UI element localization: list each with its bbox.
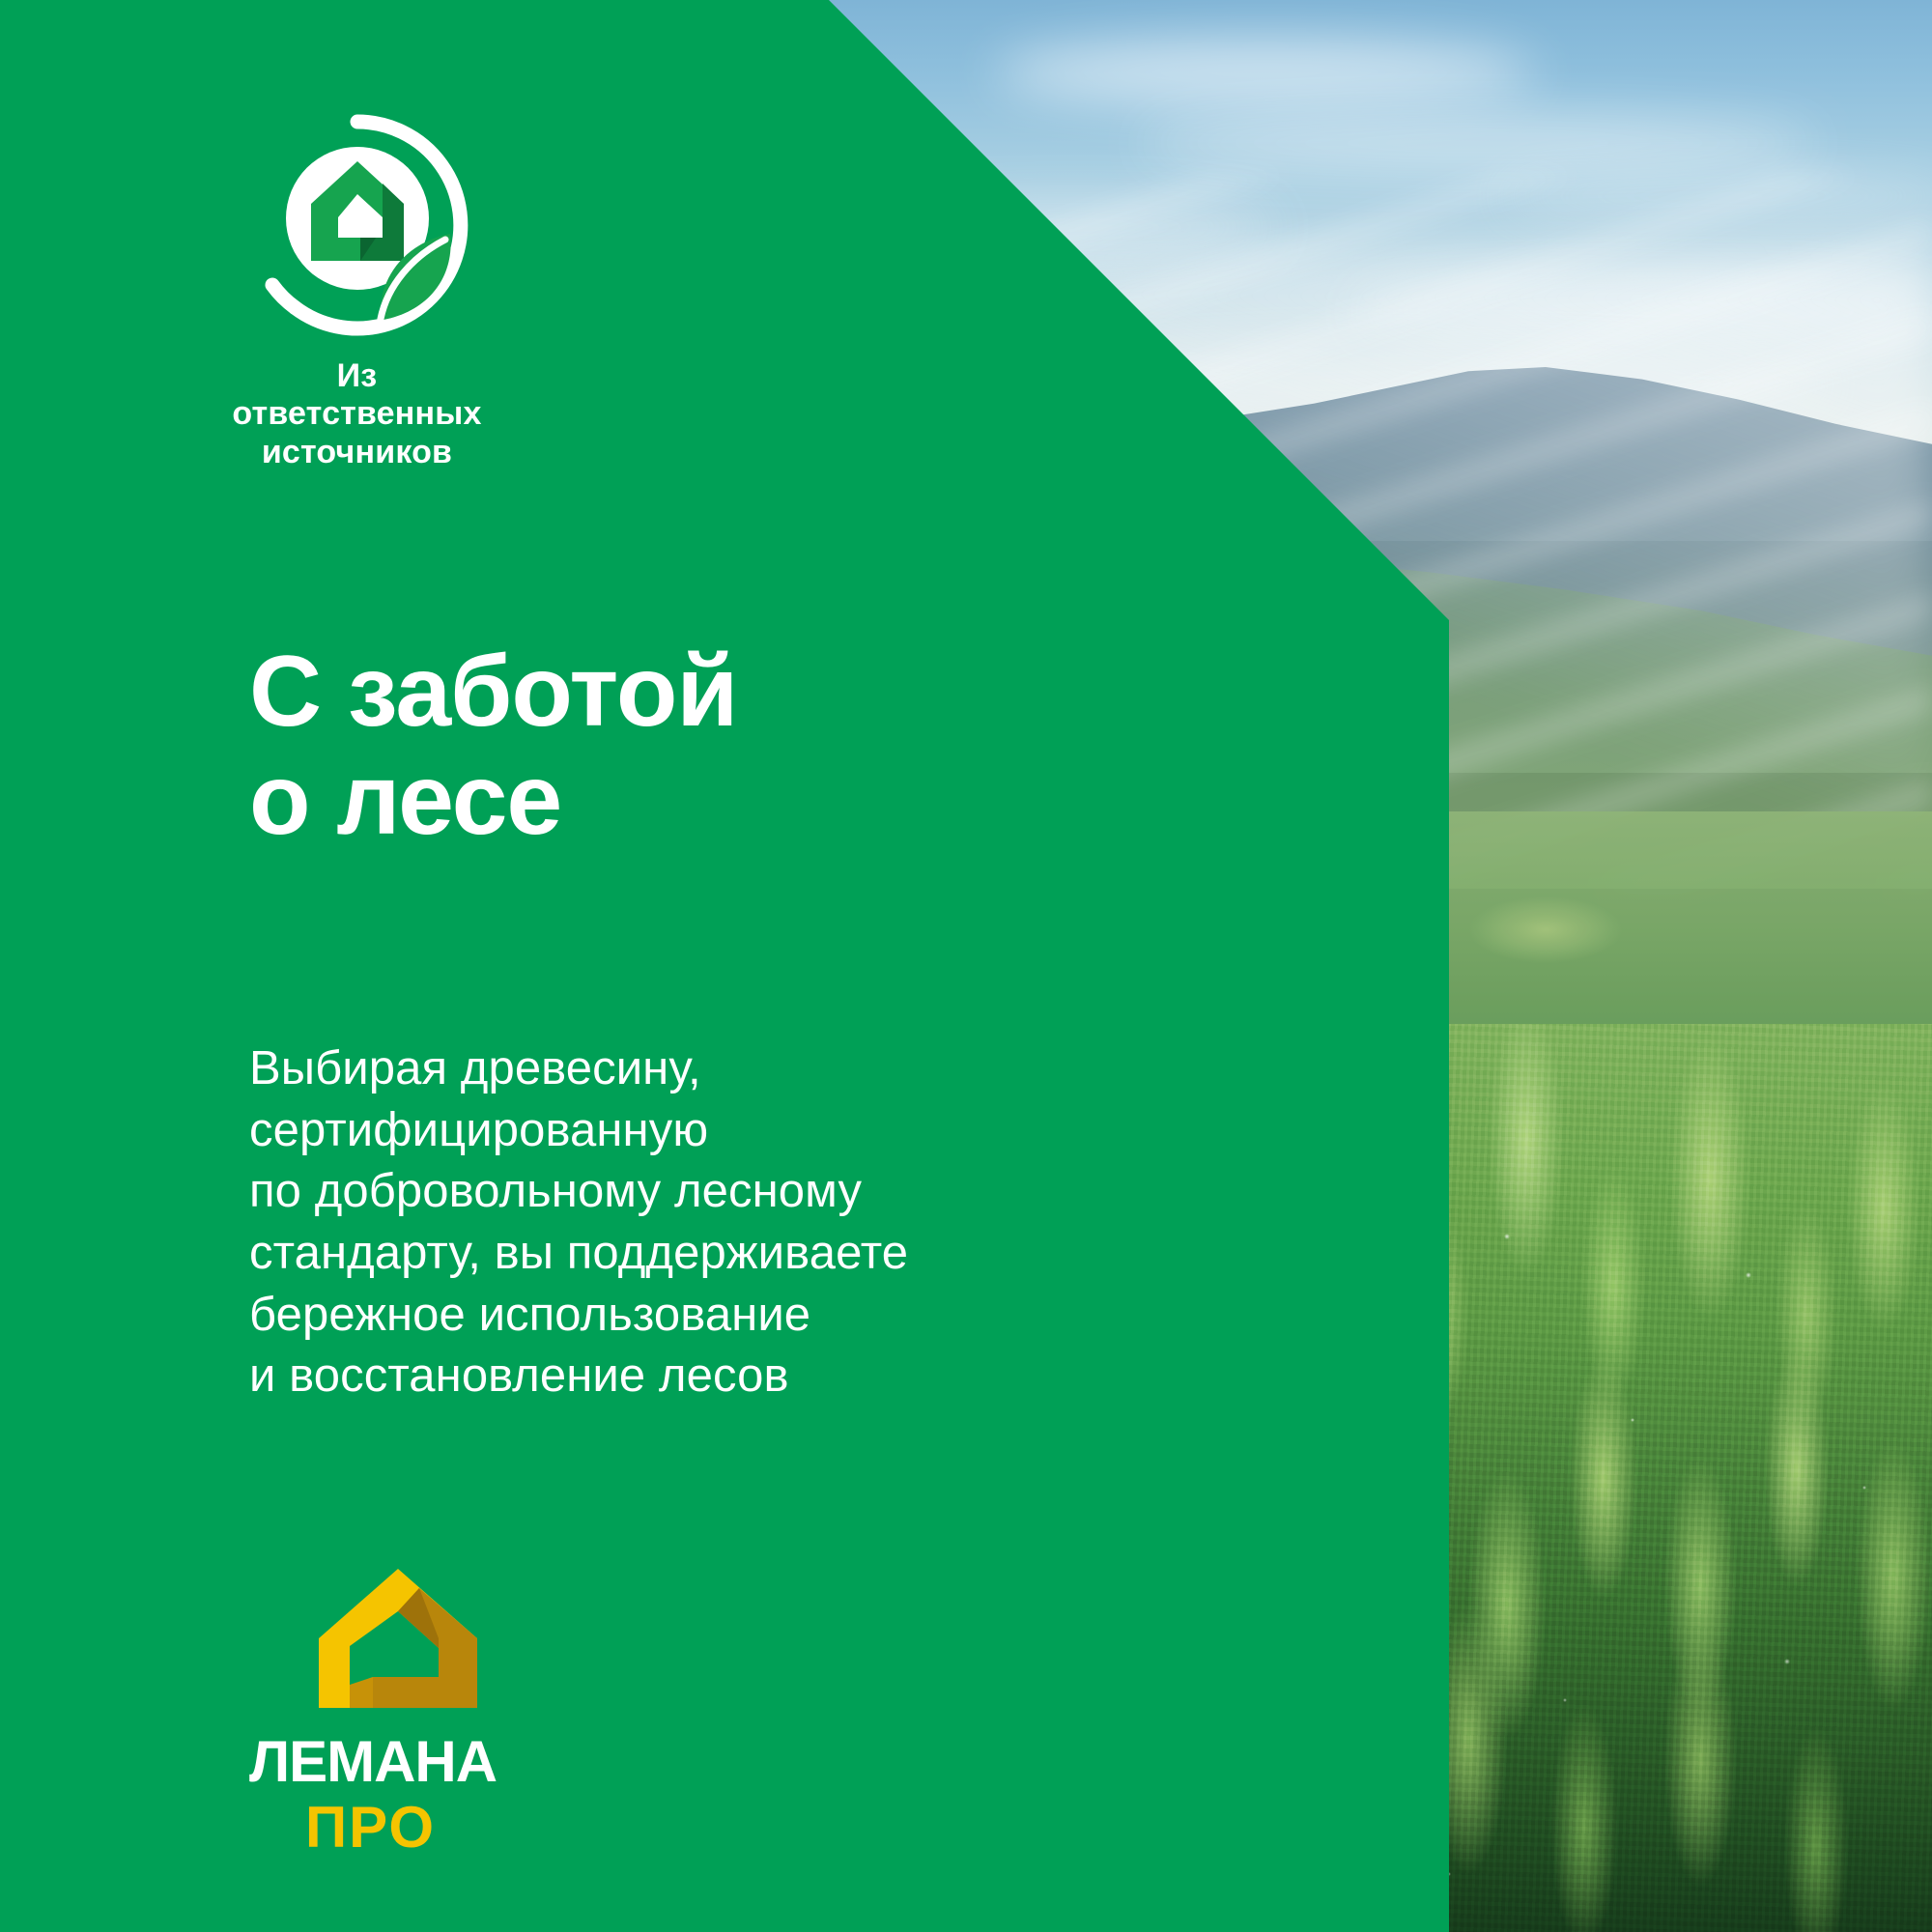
- pro-wordmark-text: ПРО: [305, 1799, 436, 1857]
- body-copy: Выбирая древесину, сертифицированную по …: [249, 1038, 908, 1407]
- lemana-wordmark-text: ЛЕМАНА: [249, 1733, 497, 1791]
- lemana-pro-logo: ЛЕМАНА ПРО: [249, 1565, 597, 1857]
- responsible-sources-badge: Из ответственных источников: [246, 114, 497, 471]
- poster-content: Из ответственных источников С заботой о …: [0, 0, 1932, 1932]
- responsible-sources-caption: Из ответственных источников: [210, 357, 504, 471]
- lemana-wordmark: ЛЕМАНА: [249, 1733, 578, 1791]
- page-title: С заботой о лесе: [249, 638, 737, 855]
- lemana-house-icon: [315, 1565, 481, 1712]
- responsible-sources-seal-icon: [246, 114, 469, 336]
- pro-wordmark: ПРО: [305, 1799, 518, 1857]
